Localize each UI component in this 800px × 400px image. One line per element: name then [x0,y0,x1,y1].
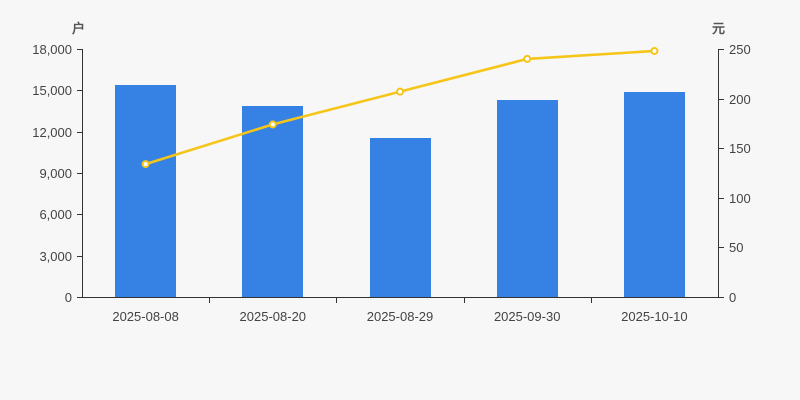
bar[interactable] [370,138,431,297]
left-axis-tick-label: 6,000 [39,208,72,221]
left-axis-unit-label: 户 [72,18,85,37]
x-axis-line [82,297,719,298]
left-axis-tick-mark [77,297,82,298]
right-axis-tick-label: 100 [729,192,751,205]
chart-container: 户 元 03,0006,0009,00012,00015,00018,000 0… [0,0,800,400]
left-axis-tick-label: 3,000 [39,250,72,263]
left-axis-tick-label: 18,000 [32,43,72,56]
x-axis-tick-mark [591,298,592,303]
line-marker[interactable] [524,56,530,62]
bar[interactable] [624,92,685,297]
x-axis-tick-label: 2025-10-10 [591,310,718,323]
left-axis-tick-mark [77,132,82,133]
right-axis-tick-mark [719,198,724,199]
right-axis-tick-label: 0 [729,291,736,304]
right-axis-line [718,49,719,298]
right-axis-tick-mark [719,148,724,149]
right-axis-tick-label: 250 [729,43,751,56]
x-axis-tick-mark [464,298,465,303]
right-axis-tick-label: 200 [729,93,751,106]
left-axis-tick-mark [77,173,82,174]
left-axis-tick-mark [77,90,82,91]
x-axis-tick-mark [336,298,337,303]
x-axis-tick-label: 2025-09-30 [464,310,591,323]
right-axis-tick-mark [719,247,724,248]
bar[interactable] [242,106,303,297]
right-axis-unit-label: 元 [712,18,725,37]
right-axis-tick-label: 150 [729,142,751,155]
right-axis-tick-mark [719,99,724,100]
x-axis-tick-label: 2025-08-08 [82,310,209,323]
bar[interactable] [115,85,176,297]
line-marker[interactable] [397,89,403,95]
right-axis-tick-label: 50 [729,241,743,254]
x-axis-tick-label: 2025-08-29 [336,310,463,323]
x-axis-tick-mark [209,298,210,303]
left-axis-tick-mark [77,214,82,215]
line-marker[interactable] [651,48,657,54]
left-axis-tick-label: 9,000 [39,167,72,180]
left-axis-tick-label: 12,000 [32,126,72,139]
left-axis-line [82,49,83,298]
right-axis-tick-mark [719,49,724,50]
left-axis-tick-mark [77,49,82,50]
right-axis-tick-mark [719,297,724,298]
left-axis-tick-mark [77,256,82,257]
left-axis-tick-label: 15,000 [32,84,72,97]
bar[interactable] [497,100,558,297]
x-axis-tick-label: 2025-08-20 [209,310,336,323]
left-axis-tick-label: 0 [65,291,72,304]
